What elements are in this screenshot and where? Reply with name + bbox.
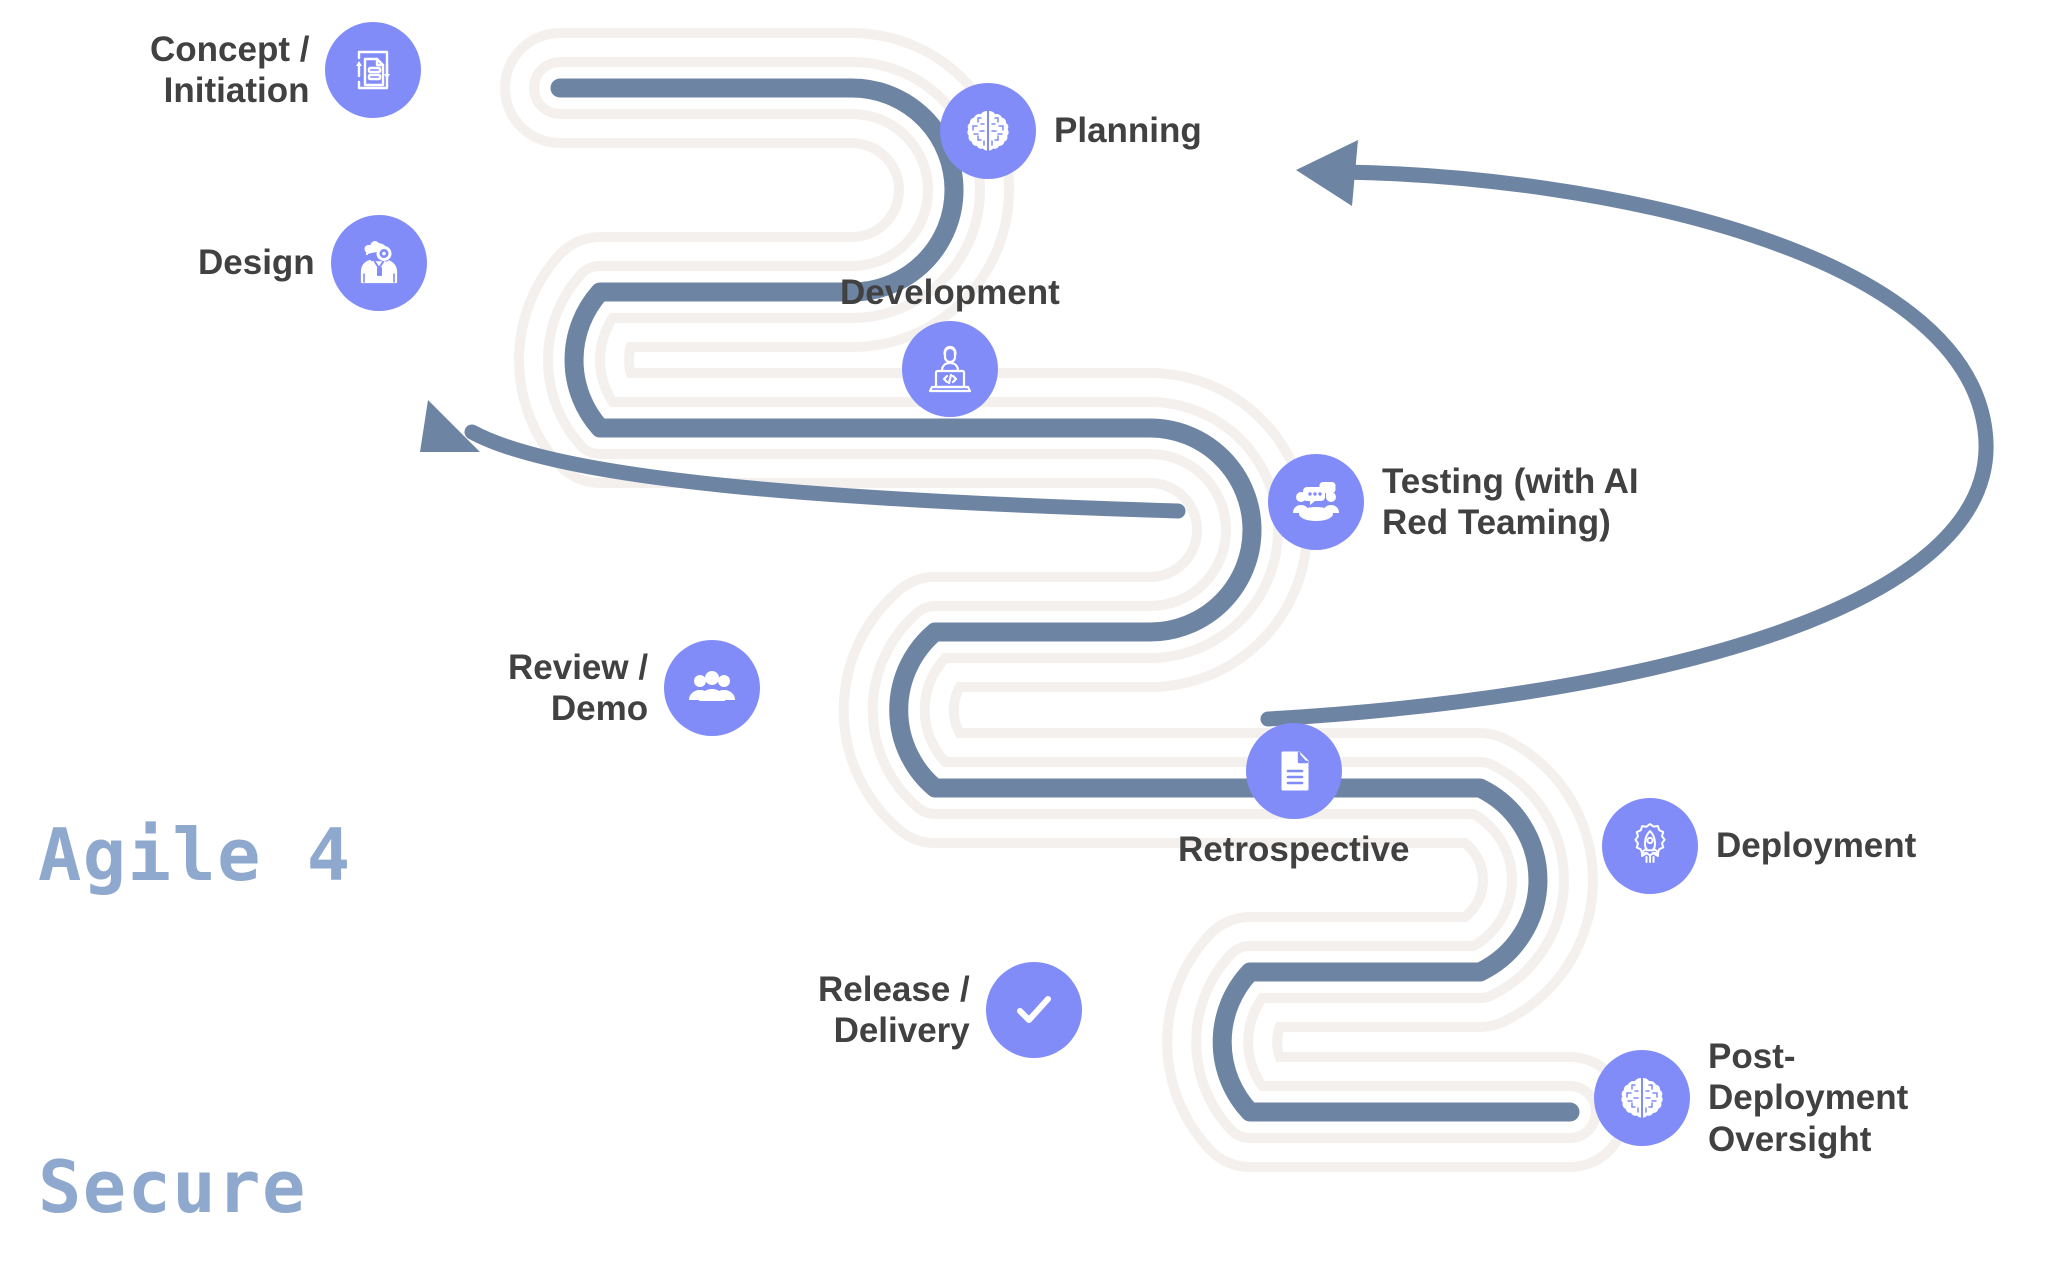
stage-node-concept[interactable]: Concept / Initiation [150, 22, 421, 118]
stage-label-retrospective: Retrospective [1178, 829, 1409, 870]
stage-label-release: Release / Delivery [818, 969, 970, 1052]
stage-label-deployment: Deployment [1716, 825, 1916, 866]
check-icon [986, 962, 1082, 1058]
stage-node-planning[interactable]: Planning [940, 83, 1202, 179]
stage-label-design: Design [198, 242, 315, 283]
developer-code-icon [902, 321, 998, 417]
stage-label-post-deployment: Post- Deployment Oversight [1708, 1036, 1908, 1160]
stage-node-deployment[interactable]: Deployment [1602, 798, 1916, 894]
rocket-gear-icon [1602, 798, 1698, 894]
stage-node-retrospective[interactable]: Retrospective [1178, 723, 1409, 870]
brain-icon [940, 83, 1036, 179]
title-line-2: Secure [38, 1132, 738, 1243]
stage-node-design[interactable]: Design [198, 215, 427, 311]
people-group-icon [664, 640, 760, 736]
stage-label-concept: Concept / Initiation [150, 29, 309, 112]
title-line-1: Agile 4 [38, 800, 738, 911]
stage-label-planning: Planning [1054, 110, 1202, 151]
stage-node-testing[interactable]: Testing (with AI Red Teaming) [1268, 454, 1639, 550]
feedback-arrow-to-planning [1268, 140, 1986, 719]
diagram-canvas: Agile 4 Secure Responsible AI Framework … [0, 0, 2048, 1286]
report-document-icon [1246, 723, 1342, 819]
stage-node-review[interactable]: Review / Demo [508, 640, 760, 736]
document-flow-icon [325, 22, 421, 118]
brain-icon [1594, 1050, 1690, 1146]
team-meeting-icon [1268, 454, 1364, 550]
stage-label-review: Review / Demo [508, 647, 648, 730]
stage-node-release[interactable]: Release / Delivery [818, 962, 1082, 1058]
stage-node-post-deployment[interactable]: Post- Deployment Oversight [1594, 1036, 1908, 1160]
designer-icon [331, 215, 427, 311]
stage-label-testing: Testing (with AI Red Teaming) [1382, 461, 1639, 544]
stage-label-development: Development [840, 272, 1060, 313]
stage-node-development[interactable]: Development [840, 272, 1060, 417]
